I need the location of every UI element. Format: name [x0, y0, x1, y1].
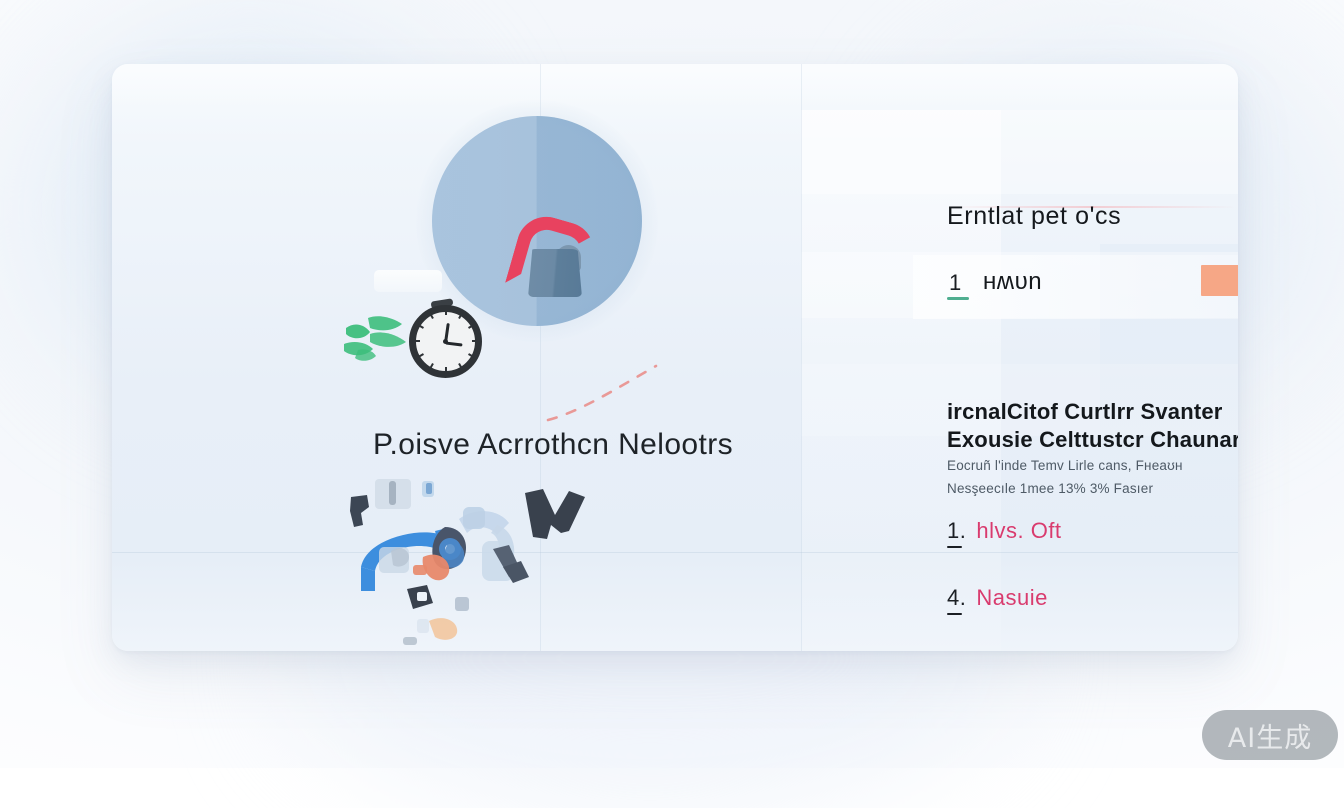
- list-item[interactable]: 4.Nasuie: [947, 585, 1048, 611]
- list-item-number: 1.: [947, 518, 966, 544]
- metric-bar: [1201, 265, 1238, 296]
- padlock-body: [528, 249, 582, 297]
- clock-tick: [414, 340, 420, 342]
- list-item-label: Nasuie: [976, 585, 1047, 610]
- metric-row[interactable]: [913, 255, 1238, 319]
- list-item[interactable]: 1.hlvs. Oft: [947, 518, 1062, 544]
- section-subtext-line-1: Eocruñ l'inde Temv Lirle cans, Fнeaʊʜ: [947, 454, 1238, 477]
- list-item-number: 4.: [947, 585, 966, 611]
- section-subtext: Eocruñ l'inde Temv Lirle cans, Fнeaʊʜ Ne…: [947, 454, 1238, 500]
- clock-tick: [472, 340, 478, 342]
- green-arrow-icon: [340, 312, 412, 364]
- clock-tick: [445, 309, 447, 315]
- dashed-trail-icon: [544, 364, 664, 424]
- list-item-label: hlvs. Oft: [976, 518, 1061, 543]
- page-background: P.oisve Acrrothcn Nelootrs: [0, 0, 1344, 768]
- ai-generated-watermark: AI生成: [1202, 710, 1338, 760]
- watermark-label: AI生成: [1228, 716, 1312, 755]
- padlock-icon: [512, 219, 582, 297]
- section-heading: ircnalCitof Curtlrr Svanter Exousie Celt…: [947, 398, 1238, 454]
- clock-tick: [445, 367, 447, 373]
- section-heading-line-2: Exousie Celttustcr Chaunart: [947, 426, 1238, 454]
- chip-placeholder: [374, 270, 442, 292]
- metric-label: ʜʍυn: [983, 268, 1042, 296]
- metric-number: 1: [949, 270, 961, 296]
- scatter-blob-cluster: [337, 479, 627, 649]
- right-content-area: Erntlat pet o'cs 1 ʜʍυn ircnalCitof Curt…: [801, 64, 1238, 651]
- clock-icon: [409, 305, 482, 378]
- illustration-title: P.oisve Acrrothcn Nelootrs: [373, 430, 733, 460]
- right-panel-title: Erntlat pet o'cs: [947, 202, 1121, 231]
- section-heading-line-1: ircnalCitof Curtlrr Svanter: [947, 398, 1238, 426]
- main-card: P.oisve Acrrothcn Nelootrs: [112, 64, 1238, 651]
- clock-center-pin: [443, 339, 448, 344]
- section-subtext-line-2: Nesşeecıle 1mee 13% 3% Fasıer: [947, 477, 1238, 500]
- illustration-area: P.oisve Acrrothcn Nelootrs: [112, 64, 801, 651]
